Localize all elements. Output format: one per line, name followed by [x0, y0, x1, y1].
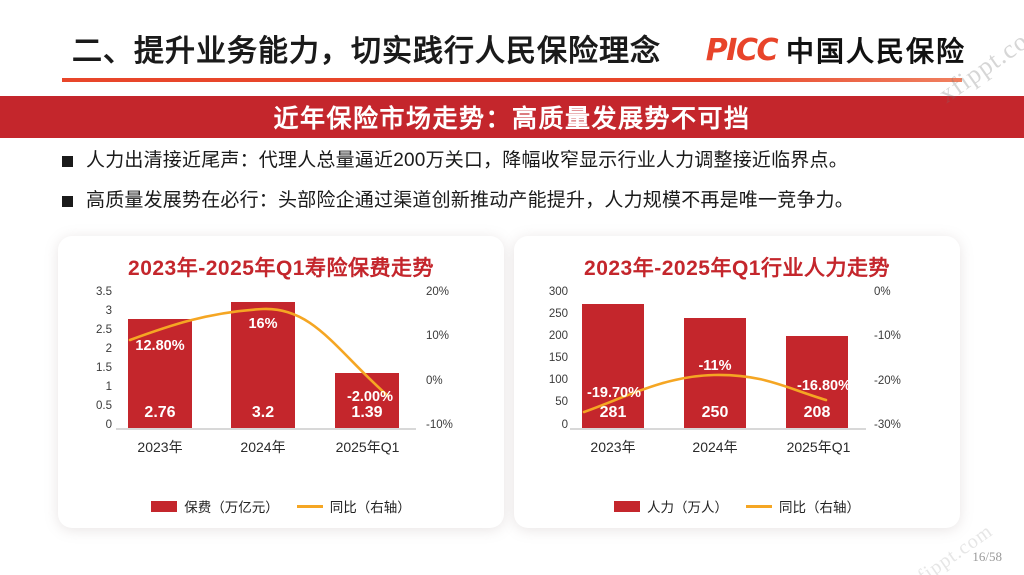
y2-axis-tick: -20% [874, 375, 901, 387]
y2-axis-tick: -10% [426, 419, 453, 431]
list-item: 高质量发展势在必行：头部险企通过渠道创新推动产能提升，人力规模不再是唯一竞争力。 [62, 188, 982, 214]
bar-value-label: 3.2 [231, 404, 295, 422]
y-axis-tick: 1.5 [78, 362, 112, 374]
y-axis-tick: 2 [78, 343, 112, 355]
section-banner: 近年保险市场走势：高质量发展势不可挡 [0, 96, 1024, 138]
pct-label-2025q1: -2.00% [330, 389, 410, 405]
x-axis-category: 2024年 [675, 437, 755, 457]
slide-header: 二、提升业务能力，切实践行人民保险理念 PICC 中国人民保险 [0, 22, 1024, 88]
x-axis-category: 2023年 [573, 437, 653, 457]
slide-canvas: xfippt.com xfippt.com 二、提升业务能力，切实践行人民保险理… [0, 0, 1024, 575]
pct-label-2023: -19.70% [570, 385, 658, 401]
y-axis-tick: 3 [78, 305, 112, 317]
legend-label: 保费（万亿元） [184, 496, 279, 516]
y-axis-tick: 300 [528, 286, 568, 298]
legend-label: 人力（万人） [647, 496, 728, 516]
bar-value-label: 208 [786, 404, 848, 422]
page-number: 16/58 [972, 549, 1002, 565]
legend-label: 同比（右轴） [779, 496, 860, 516]
y2-axis-tick: 0% [874, 286, 891, 298]
picc-logo: PICC 中国人民保险 [706, 30, 966, 70]
y2-axis-tick: 0% [426, 375, 443, 387]
bar-value-label: 2.76 [128, 404, 192, 422]
bar-value-label: 1.39 [335, 404, 399, 422]
picc-logo-latin: PICC [706, 33, 777, 68]
chart-plot-area-premium: 3.5 3 2.5 2 1.5 1 0.5 0 20% 10% 0% -10% … [58, 290, 504, 490]
y-axis-tick: 200 [528, 330, 568, 342]
bar-2023: 2.76 [128, 319, 192, 428]
x-axis-baseline [116, 428, 416, 430]
bar-value-label: 250 [684, 404, 746, 422]
y-axis-tick: 250 [528, 308, 568, 320]
pct-label-2024: -11% [682, 358, 748, 374]
chart-title: 2023年-2025年Q1寿险保费走势 [58, 252, 504, 282]
x-axis-baseline [570, 428, 866, 430]
bar-2023: 281 [582, 304, 644, 428]
bullet-list: 人力出清接近尾声：代理人总量逼近200万关口，降幅收窄显示行业人力调整接近临界点… [62, 148, 982, 227]
legend-bar-swatch-icon [614, 501, 640, 512]
legend-item-line: 同比（右轴） [297, 496, 411, 516]
picc-logo-chinese: 中国人民保险 [786, 30, 966, 70]
y-axis-tick: 150 [528, 352, 568, 364]
pct-label-2023: 12.80% [120, 338, 200, 354]
y-axis-tick: 0 [528, 419, 568, 431]
bar-value-label: 281 [582, 404, 644, 422]
legend-line-swatch-icon [297, 505, 323, 508]
legend-item-bar: 人力（万人） [614, 496, 728, 516]
header-divider-rule [62, 78, 962, 82]
page-title: 二、提升业务能力，切实践行人民保险理念 [72, 26, 661, 70]
section-banner-text: 近年保险市场走势：高质量发展势不可挡 [273, 99, 750, 135]
legend-bar-swatch-icon [151, 501, 177, 512]
y-axis-tick: 50 [528, 396, 568, 408]
x-axis-category: 2023年 [120, 437, 200, 457]
pct-label-2025q1: -16.80% [780, 378, 868, 394]
legend-label: 同比（右轴） [330, 496, 411, 516]
chart-title: 2023年-2025年Q1行业人力走势 [514, 252, 960, 282]
y-axis-tick: 0 [78, 419, 112, 431]
legend-item-bar: 保费（万亿元） [151, 496, 279, 516]
chart-legend-manpower: 人力（万人） 同比（右轴） [514, 496, 960, 516]
x-axis-category: 2025年Q1 [771, 437, 866, 457]
y2-axis-tick: -30% [874, 419, 901, 431]
square-bullet-icon [62, 156, 73, 167]
y-axis-tick: 1 [78, 381, 112, 393]
legend-item-line: 同比（右轴） [746, 496, 860, 516]
chart-card-premium: 2023年-2025年Q1寿险保费走势 3.5 3 2.5 2 1.5 1 0.… [58, 236, 504, 528]
x-axis-category: 2024年 [223, 437, 303, 457]
chart-legend-premium: 保费（万亿元） 同比（右轴） [58, 496, 504, 516]
y-axis-tick: 0.5 [78, 400, 112, 412]
y2-axis-tick: 20% [426, 286, 449, 298]
chart-card-manpower: 2023年-2025年Q1行业人力走势 300 250 200 150 100 … [514, 236, 960, 528]
y2-axis-tick: 10% [426, 330, 449, 342]
y-axis-tick: 2.5 [78, 324, 112, 336]
y2-axis-tick: -10% [874, 330, 901, 342]
legend-line-swatch-icon [746, 505, 772, 508]
x-axis-category: 2025年Q1 [320, 437, 415, 457]
chart-plot-area-manpower: 300 250 200 150 100 50 0 0% -10% -20% -3… [514, 290, 960, 490]
watermark-text-secondary: xfippt.com [904, 520, 997, 575]
square-bullet-icon [62, 196, 73, 207]
bullet-text: 高质量发展势在必行：头部险企通过渠道创新推动产能提升，人力规模不再是唯一竞争力。 [86, 188, 854, 214]
y-axis-tick: 3.5 [78, 286, 112, 298]
pct-label-2024: 16% [228, 316, 298, 332]
list-item: 人力出清接近尾声：代理人总量逼近200万关口，降幅收窄显示行业人力调整接近临界点… [62, 148, 982, 174]
bullet-text: 人力出清接近尾声：代理人总量逼近200万关口，降幅收窄显示行业人力调整接近临界点… [86, 148, 848, 174]
y-axis-tick: 100 [528, 374, 568, 386]
